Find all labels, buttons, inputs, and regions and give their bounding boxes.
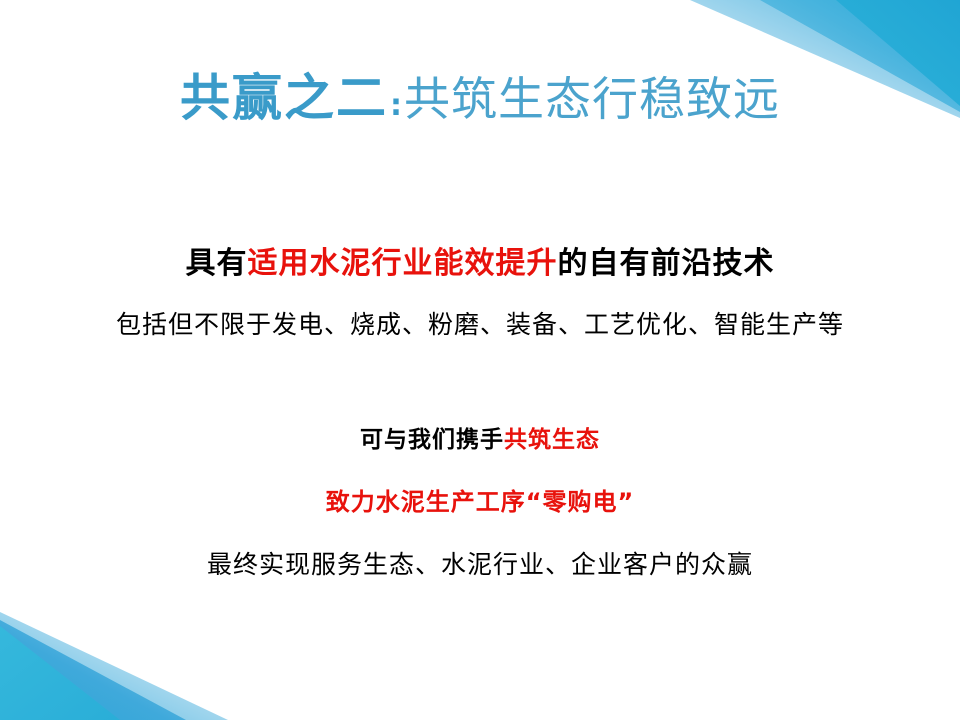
partner-invite-highlight: 共筑生态: [504, 427, 600, 453]
title-subtitle: 共筑生态行稳致远: [404, 72, 780, 126]
zero-power-goal-line: 致力水泥生产工序“零购电”: [0, 482, 960, 517]
title-separator: :: [388, 88, 404, 123]
tech-lead-line: 具有适用水泥行业能效提升的自有前沿技术: [0, 238, 960, 282]
win-win-outcome-line: 最终实现服务生态、水泥行业、企业客户的众赢: [0, 545, 960, 581]
slide-title: 共赢之二:共筑生态行稳致远: [0, 58, 960, 130]
slide-canvas: 共赢之二:共筑生态行稳致远 具有适用水泥行业能效提升的自有前沿技术 包括但不限于…: [0, 0, 960, 720]
tech-scope-line: 包括但不限于发电、烧成、粉磨、装备、工艺优化、智能生产等: [0, 305, 960, 341]
diagonal-ribbon-bottom-left: [0, 612, 228, 720]
tech-lead-highlight: 适用水泥行业能效提升: [248, 246, 558, 281]
tech-lead-prefix: 具有: [186, 246, 248, 281]
partner-invite-prefix: 可与我们携手: [360, 427, 504, 453]
partner-invite-line: 可与我们携手共筑生态: [0, 420, 960, 454]
tech-lead-suffix: 的自有前沿技术: [558, 246, 775, 281]
title-main-text: 共赢之二: [180, 69, 388, 127]
